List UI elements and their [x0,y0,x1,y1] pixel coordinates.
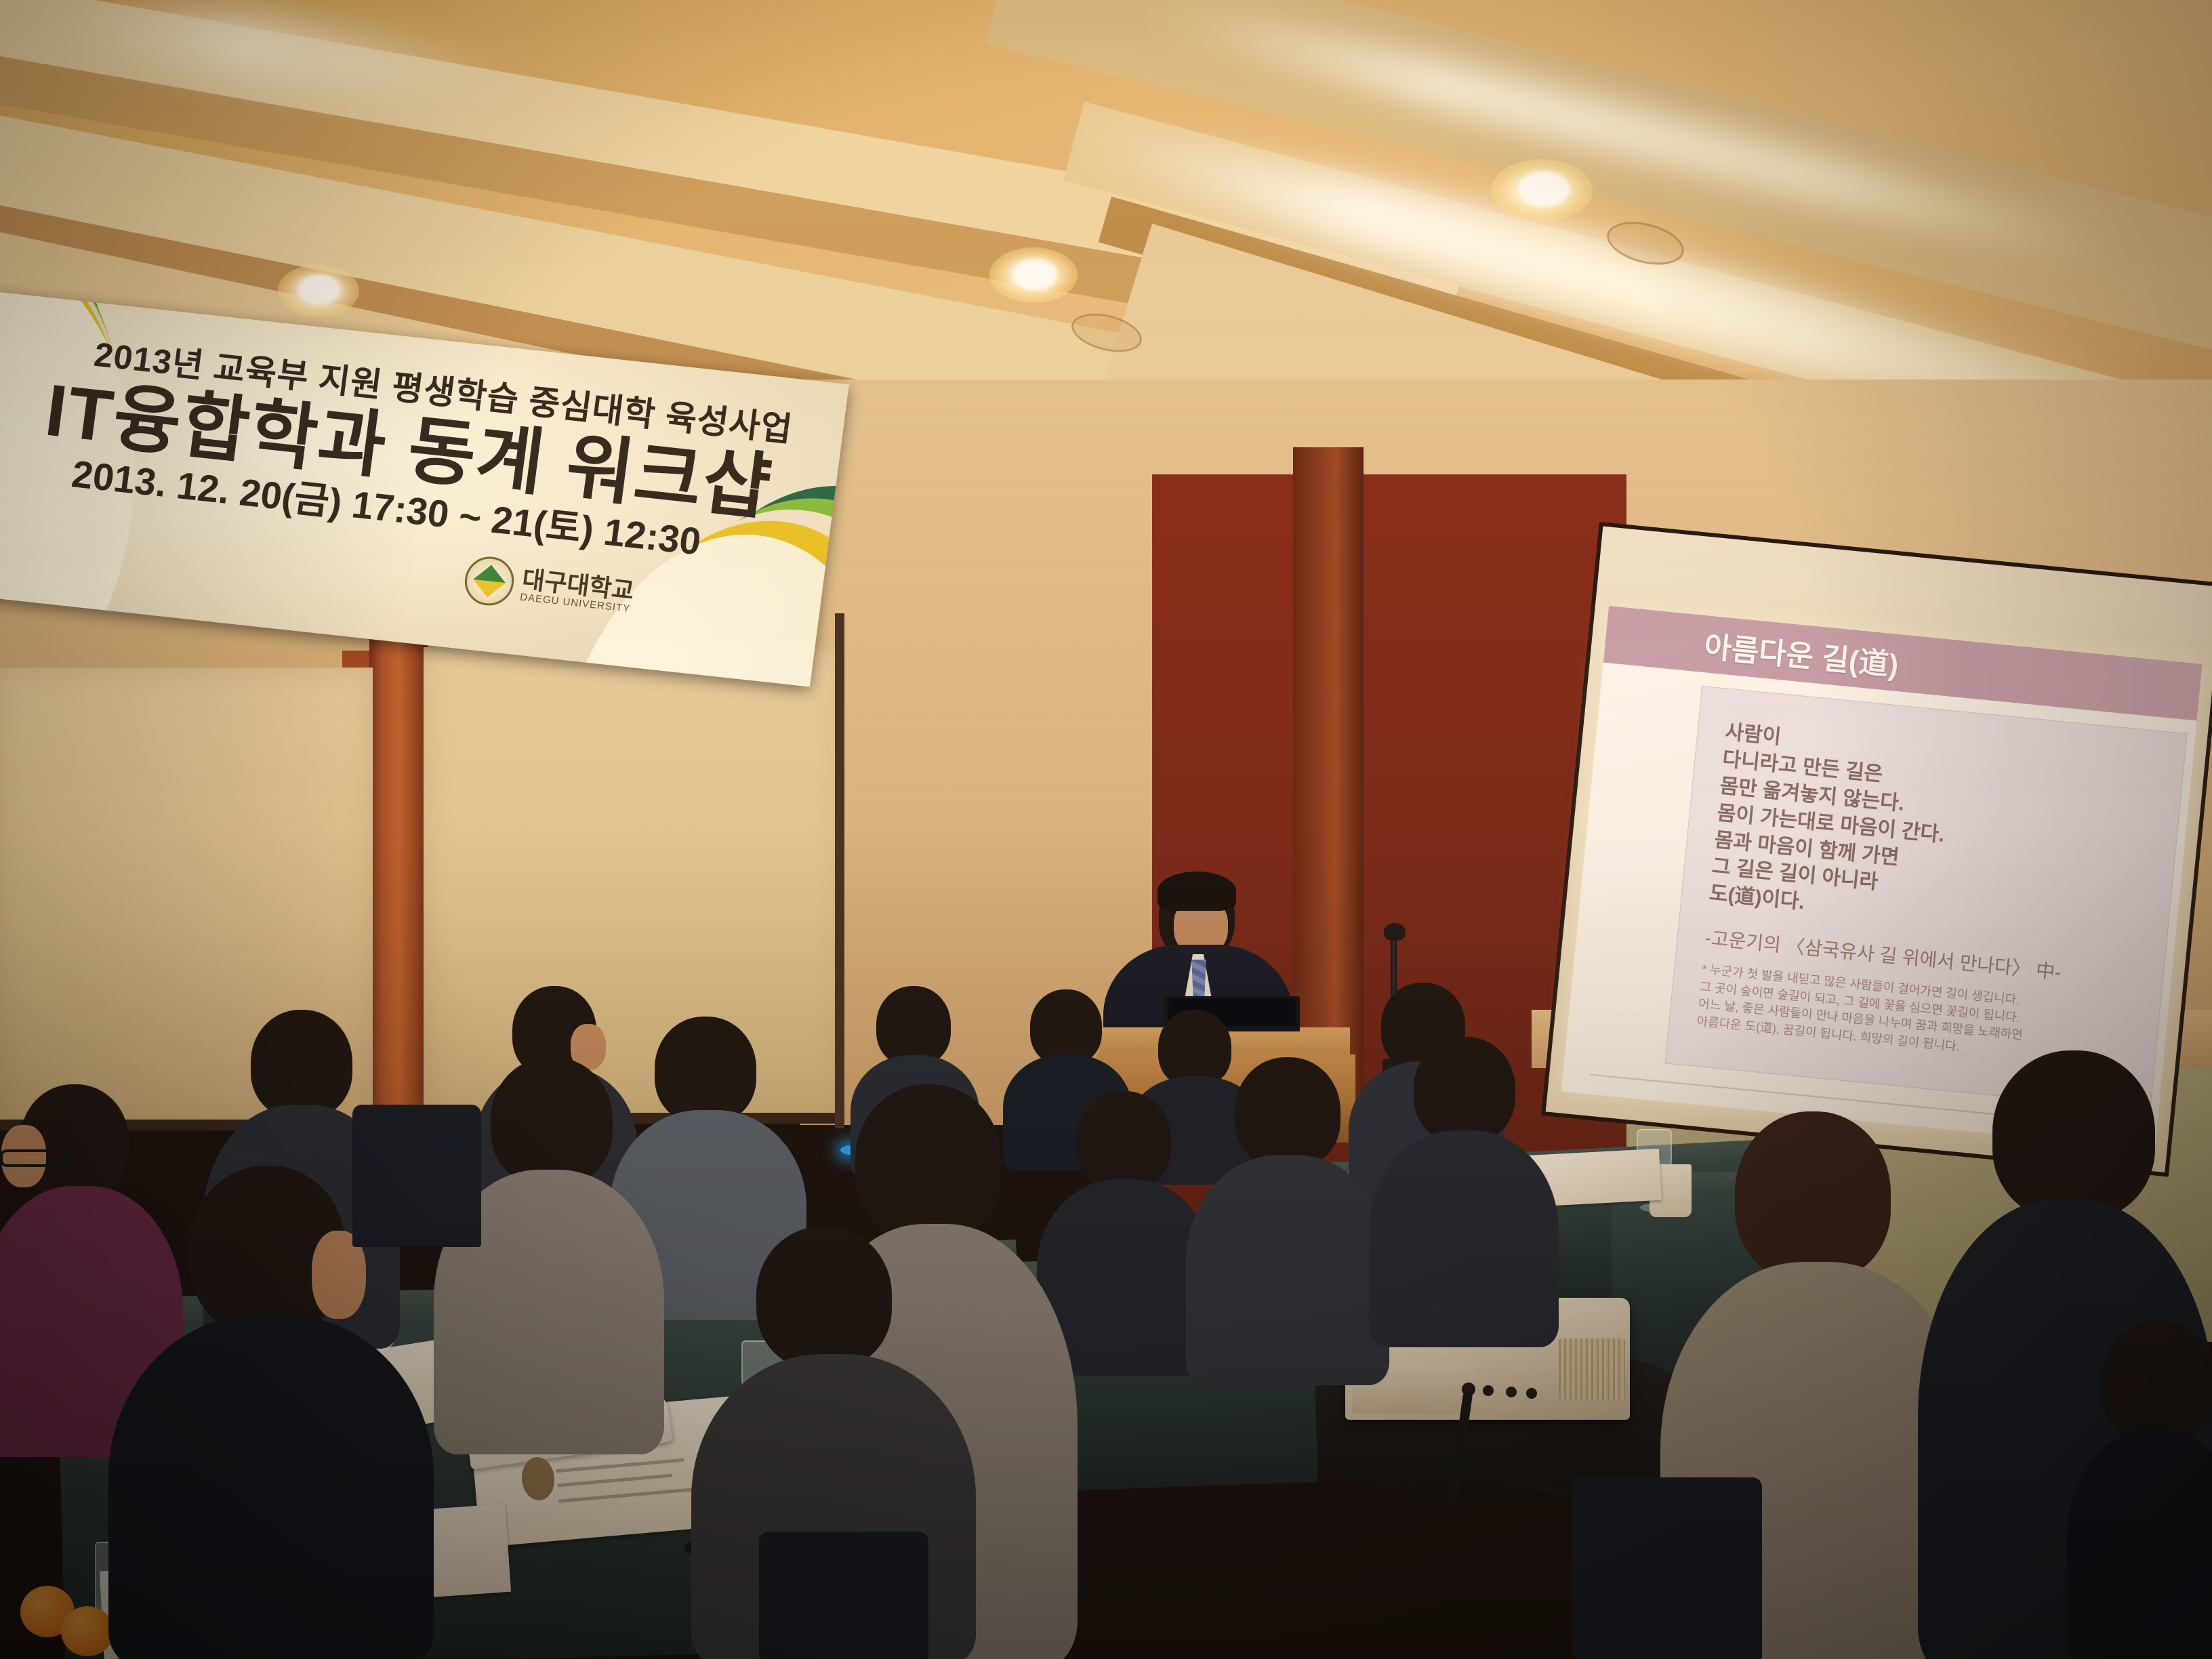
attendee-torso [2067,1430,2212,1659]
attendee-head [1414,1037,1515,1143]
presenter-hair-icon [1158,872,1236,911]
attendee-head [251,1010,352,1118]
downlight-core-2 [1012,259,1057,290]
attendee-torso [1186,1155,1389,1385]
attendee [1186,1057,1389,1376]
slide-title: 아름다운 길(道) [1702,622,1901,684]
attendee [2067,1322,2212,1659]
downlight-core-3 [1518,171,1570,207]
projector-port-icon [1483,1385,1494,1396]
attendee-head [855,1084,1002,1242]
attendee-head [876,986,951,1066]
emblem-diamond-icon [473,565,506,598]
attendee-head [491,1057,613,1186]
tangerine [61,1606,114,1656]
attendee-head [1076,1091,1171,1191]
conference-room-photo: 2013년 교육부 지원 평생학습 중심대학 육성사업 IT융합학과 동계 워크… [0,0,2212,1659]
chair-back [759,1532,928,1659]
chair-back [1572,1477,1762,1659]
attendee [1369,1037,1559,1335]
projector-vent-icon [1559,1338,1625,1399]
projector-port-icon [1506,1387,1517,1397]
microphone-head-icon [1384,923,1406,941]
attendee-head [1735,1111,1891,1281]
attendee-head [2101,1322,2212,1443]
attendee-head [756,1227,892,1369]
ceiling-beam-right-2 [1057,41,2212,95]
attendee-head [655,1017,756,1124]
chair-back [352,1105,481,1247]
attendee-head [1235,1057,1340,1168]
slide-body: 사람이 다니라고 만든 길은 몸만 옮겨놓지 않는다. 몸이 가는대로 마음이 … [1664,686,2187,1111]
roller-screen-mid-right-edge [835,613,844,1128]
attendee-head [1992,1050,2155,1220]
eyeglasses-icon [0,1149,70,1167]
projector-port-icon [1526,1388,1537,1399]
university-emblem-icon [462,554,517,608]
slide-title-bar: 아름다운 길(道) [1603,606,2203,720]
attendee-torso [108,1315,434,1659]
attendee-torso [1369,1130,1559,1347]
downlight-core-1 [298,274,340,304]
